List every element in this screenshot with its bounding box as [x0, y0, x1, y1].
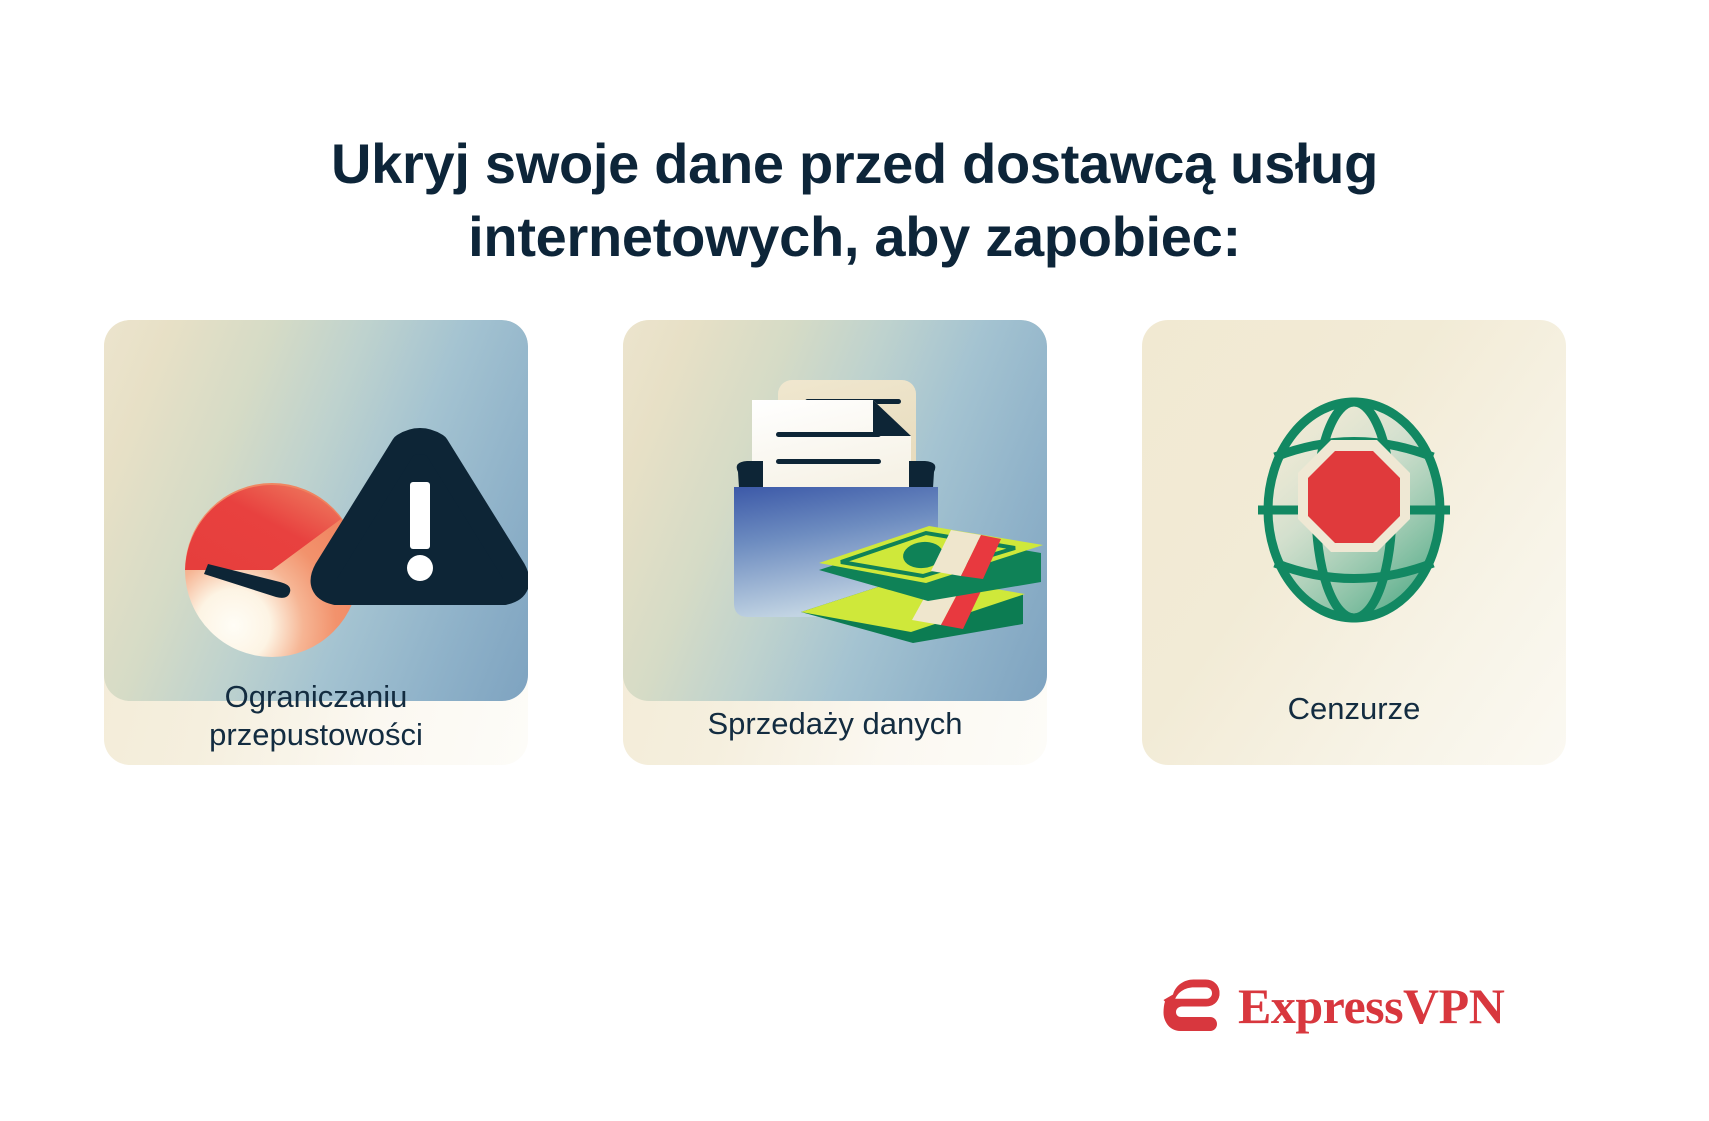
card-throttling-label-line-1: Ograniczaniu — [104, 678, 528, 716]
card-throttling-label: Ograniczaniu przepustowości — [104, 678, 528, 754]
exclamation-dot — [407, 555, 433, 581]
card-censorship-label-line-1: Cenzurze — [1142, 690, 1566, 728]
card-censorship: Cenzurze — [1142, 320, 1566, 765]
document-text-line-2 — [776, 459, 881, 464]
card-throttling-label-line-2: przepustowości — [104, 716, 528, 754]
expressvpn-wordmark: ExpressVPN — [1238, 981, 1504, 1031]
page-title-line-1: Ukryj swoje dane przed dostawcą usług — [0, 128, 1709, 201]
exclamation-bar — [410, 482, 430, 549]
card-throttling: Ograniczaniu przepustowości — [104, 320, 528, 765]
speedometer-warning-icon — [104, 320, 528, 701]
card-data-selling: Sprzedaży danych — [623, 320, 1047, 765]
globe-stop-sign-icon — [1142, 320, 1566, 701]
folder-tab-right — [909, 461, 935, 488]
card-data-selling-label: Sprzedaży danych — [623, 705, 1047, 743]
expressvpn-e-logo — [1162, 973, 1224, 1040]
document-text-line-1 — [776, 432, 881, 437]
feature-card-row: Ograniczaniu przepustowości — [104, 320, 1566, 765]
card-censorship-label: Cenzurze — [1142, 690, 1566, 728]
folder-documents-money-icon — [623, 320, 1047, 701]
stop-octagon — [1308, 451, 1400, 543]
page-title-line-2: internetowych, aby zapobiec: — [0, 201, 1709, 274]
expressvpn-logo[interactable]: ExpressVPN — [1162, 968, 1482, 1044]
card-data-selling-label-line-1: Sprzedaży danych — [623, 705, 1047, 743]
page-title: Ukryj swoje dane przed dostawcą usług in… — [0, 128, 1709, 274]
folder-tab-left — [737, 461, 763, 488]
